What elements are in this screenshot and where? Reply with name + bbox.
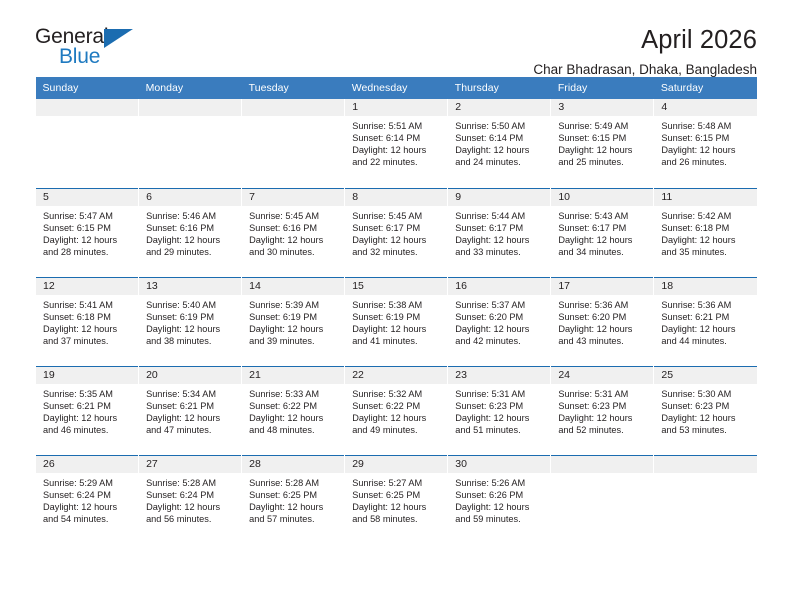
calendar-day-cell[interactable]: 24Sunrise: 5:31 AMSunset: 6:23 PMDayligh…	[551, 366, 654, 455]
day-details: Sunrise: 5:47 AMSunset: 6:15 PMDaylight:…	[36, 206, 138, 258]
calendar-day-cell[interactable]	[551, 455, 654, 544]
day-details: Sunrise: 5:36 AMSunset: 6:20 PMDaylight:…	[551, 295, 653, 347]
daylight-text: Daylight: 12 hours and 43 minutes.	[558, 323, 647, 347]
weekday-header-wednesday: Wednesday	[345, 77, 448, 99]
sunset-text: Sunset: 6:21 PM	[146, 400, 235, 412]
day-details: Sunrise: 5:27 AMSunset: 6:25 PMDaylight:…	[345, 473, 447, 525]
day-cell-inner: 19Sunrise: 5:35 AMSunset: 6:21 PMDayligh…	[36, 366, 138, 455]
day-details: Sunrise: 5:40 AMSunset: 6:19 PMDaylight:…	[139, 295, 241, 347]
calendar-day-cell[interactable]: 20Sunrise: 5:34 AMSunset: 6:21 PMDayligh…	[139, 366, 242, 455]
daylight-text: Daylight: 12 hours and 57 minutes.	[249, 501, 338, 525]
sunset-text: Sunset: 6:26 PM	[455, 489, 544, 501]
sunrise-text: Sunrise: 5:27 AM	[352, 477, 441, 489]
calendar-day-cell[interactable]: 26Sunrise: 5:29 AMSunset: 6:24 PMDayligh…	[36, 455, 139, 544]
calendar-day-cell[interactable]: 12Sunrise: 5:41 AMSunset: 6:18 PMDayligh…	[36, 277, 139, 366]
sunrise-text: Sunrise: 5:38 AM	[352, 299, 441, 311]
calendar-day-cell[interactable]	[242, 99, 345, 188]
day-cell-inner: 7Sunrise: 5:45 AMSunset: 6:16 PMDaylight…	[242, 188, 344, 277]
daylight-text: Daylight: 12 hours and 59 minutes.	[455, 501, 544, 525]
day-number: 11	[654, 189, 757, 206]
day-cell-inner: 17Sunrise: 5:36 AMSunset: 6:20 PMDayligh…	[551, 277, 653, 366]
calendar-day-cell[interactable]: 19Sunrise: 5:35 AMSunset: 6:21 PMDayligh…	[36, 366, 139, 455]
day-cell-inner	[36, 99, 138, 188]
day-number: 27	[139, 456, 241, 473]
day-number: 30	[448, 456, 550, 473]
day-number: 7	[242, 189, 344, 206]
day-number: 3	[551, 99, 653, 116]
day-cell-inner	[551, 455, 653, 544]
sunrise-text: Sunrise: 5:41 AM	[43, 299, 132, 311]
calendar-day-cell[interactable]	[139, 99, 242, 188]
sunrise-text: Sunrise: 5:45 AM	[249, 210, 338, 222]
calendar-day-cell[interactable]: 10Sunrise: 5:43 AMSunset: 6:17 PMDayligh…	[551, 188, 654, 277]
day-number	[654, 456, 757, 473]
calendar-day-cell[interactable]: 21Sunrise: 5:33 AMSunset: 6:22 PMDayligh…	[242, 366, 345, 455]
daylight-text: Daylight: 12 hours and 25 minutes.	[558, 144, 647, 168]
calendar-page: General Blue April 2026 Char Bhadrasan, …	[0, 0, 792, 612]
sunset-text: Sunset: 6:21 PM	[661, 311, 751, 323]
page-title: April 2026	[533, 26, 757, 54]
day-details: Sunrise: 5:45 AMSunset: 6:17 PMDaylight:…	[345, 206, 447, 258]
calendar-day-cell[interactable]: 22Sunrise: 5:32 AMSunset: 6:22 PMDayligh…	[345, 366, 448, 455]
day-details: Sunrise: 5:42 AMSunset: 6:18 PMDaylight:…	[654, 206, 757, 258]
sunset-text: Sunset: 6:23 PM	[661, 400, 751, 412]
day-cell-inner: 9Sunrise: 5:44 AMSunset: 6:17 PMDaylight…	[448, 188, 550, 277]
day-cell-inner	[242, 99, 344, 188]
sunset-text: Sunset: 6:15 PM	[558, 132, 647, 144]
day-cell-inner: 18Sunrise: 5:36 AMSunset: 6:21 PMDayligh…	[654, 277, 757, 366]
day-number: 19	[36, 367, 138, 384]
day-number: 14	[242, 278, 344, 295]
calendar-day-cell[interactable]: 14Sunrise: 5:39 AMSunset: 6:19 PMDayligh…	[242, 277, 345, 366]
day-details: Sunrise: 5:26 AMSunset: 6:26 PMDaylight:…	[448, 473, 550, 525]
weekday-header-monday: Monday	[139, 77, 242, 99]
day-cell-inner: 10Sunrise: 5:43 AMSunset: 6:17 PMDayligh…	[551, 188, 653, 277]
calendar-day-cell[interactable]: 4Sunrise: 5:48 AMSunset: 6:15 PMDaylight…	[654, 99, 757, 188]
calendar-day-cell[interactable]: 9Sunrise: 5:44 AMSunset: 6:17 PMDaylight…	[448, 188, 551, 277]
sunrise-text: Sunrise: 5:39 AM	[249, 299, 338, 311]
calendar-day-cell[interactable]: 30Sunrise: 5:26 AMSunset: 6:26 PMDayligh…	[448, 455, 551, 544]
sunset-text: Sunset: 6:17 PM	[455, 222, 544, 234]
sunset-text: Sunset: 6:25 PM	[352, 489, 441, 501]
logo-text-blue: Blue	[59, 46, 100, 67]
sunset-text: Sunset: 6:25 PM	[249, 489, 338, 501]
sunset-text: Sunset: 6:22 PM	[249, 400, 338, 412]
day-details: Sunrise: 5:28 AMSunset: 6:24 PMDaylight:…	[139, 473, 241, 525]
calendar-week-row: 5Sunrise: 5:47 AMSunset: 6:15 PMDaylight…	[36, 188, 758, 277]
daylight-text: Daylight: 12 hours and 51 minutes.	[455, 412, 544, 436]
day-details: Sunrise: 5:49 AMSunset: 6:15 PMDaylight:…	[551, 116, 653, 168]
logo-text-general: General	[35, 26, 108, 47]
day-details: Sunrise: 5:35 AMSunset: 6:21 PMDaylight:…	[36, 384, 138, 436]
sunrise-text: Sunrise: 5:42 AM	[661, 210, 751, 222]
day-cell-inner	[139, 99, 241, 188]
day-details: Sunrise: 5:33 AMSunset: 6:22 PMDaylight:…	[242, 384, 344, 436]
daylight-text: Daylight: 12 hours and 41 minutes.	[352, 323, 441, 347]
sunrise-text: Sunrise: 5:48 AM	[661, 120, 751, 132]
day-number: 29	[345, 456, 447, 473]
weekday-header-row: Sunday Monday Tuesday Wednesday Thursday…	[36, 77, 758, 99]
sunset-text: Sunset: 6:20 PM	[558, 311, 647, 323]
sunset-text: Sunset: 6:19 PM	[146, 311, 235, 323]
day-number: 26	[36, 456, 138, 473]
day-cell-inner: 2Sunrise: 5:50 AMSunset: 6:14 PMDaylight…	[448, 99, 550, 188]
sunset-text: Sunset: 6:19 PM	[352, 311, 441, 323]
daylight-text: Daylight: 12 hours and 30 minutes.	[249, 234, 338, 258]
day-number: 18	[654, 278, 757, 295]
calendar-day-cell[interactable]: 5Sunrise: 5:47 AMSunset: 6:15 PMDaylight…	[36, 188, 139, 277]
calendar-day-cell[interactable]: 16Sunrise: 5:37 AMSunset: 6:20 PMDayligh…	[448, 277, 551, 366]
daylight-text: Daylight: 12 hours and 32 minutes.	[352, 234, 441, 258]
day-cell-inner: 23Sunrise: 5:31 AMSunset: 6:23 PMDayligh…	[448, 366, 550, 455]
calendar-day-cell[interactable]: 7Sunrise: 5:45 AMSunset: 6:16 PMDaylight…	[242, 188, 345, 277]
calendar-header-row: Sunday Monday Tuesday Wednesday Thursday…	[36, 77, 758, 99]
sunrise-text: Sunrise: 5:33 AM	[249, 388, 338, 400]
calendar-day-cell[interactable]: 8Sunrise: 5:45 AMSunset: 6:17 PMDaylight…	[345, 188, 448, 277]
calendar-day-cell[interactable]: 6Sunrise: 5:46 AMSunset: 6:16 PMDaylight…	[139, 188, 242, 277]
day-number: 9	[448, 189, 550, 206]
day-details: Sunrise: 5:31 AMSunset: 6:23 PMDaylight:…	[551, 384, 653, 436]
sunrise-text: Sunrise: 5:31 AM	[558, 388, 647, 400]
day-cell-inner: 15Sunrise: 5:38 AMSunset: 6:19 PMDayligh…	[345, 277, 447, 366]
daylight-text: Daylight: 12 hours and 53 minutes.	[661, 412, 751, 436]
daylight-text: Daylight: 12 hours and 56 minutes.	[146, 501, 235, 525]
daylight-text: Daylight: 12 hours and 44 minutes.	[661, 323, 751, 347]
day-number: 17	[551, 278, 653, 295]
day-details: Sunrise: 5:44 AMSunset: 6:17 PMDaylight:…	[448, 206, 550, 258]
calendar-day-cell[interactable]	[36, 99, 139, 188]
daylight-text: Daylight: 12 hours and 29 minutes.	[146, 234, 235, 258]
sunrise-text: Sunrise: 5:30 AM	[661, 388, 751, 400]
sunrise-text: Sunrise: 5:29 AM	[43, 477, 132, 489]
calendar-day-cell[interactable]: 3Sunrise: 5:49 AMSunset: 6:15 PMDaylight…	[551, 99, 654, 188]
calendar-day-cell[interactable]: 23Sunrise: 5:31 AMSunset: 6:23 PMDayligh…	[448, 366, 551, 455]
daylight-text: Daylight: 12 hours and 24 minutes.	[455, 144, 544, 168]
day-number: 5	[36, 189, 138, 206]
calendar-day-cell[interactable]: 2Sunrise: 5:50 AMSunset: 6:14 PMDaylight…	[448, 99, 551, 188]
sunset-text: Sunset: 6:14 PM	[455, 132, 544, 144]
day-details	[654, 473, 757, 477]
calendar-week-row: 26Sunrise: 5:29 AMSunset: 6:24 PMDayligh…	[36, 455, 758, 544]
weekday-header-tuesday: Tuesday	[242, 77, 345, 99]
day-number: 20	[139, 367, 241, 384]
sunrise-text: Sunrise: 5:50 AM	[455, 120, 544, 132]
day-details: Sunrise: 5:29 AMSunset: 6:24 PMDaylight:…	[36, 473, 138, 525]
sunrise-text: Sunrise: 5:49 AM	[558, 120, 647, 132]
calendar-week-row: 19Sunrise: 5:35 AMSunset: 6:21 PMDayligh…	[36, 366, 758, 455]
sunset-text: Sunset: 6:21 PM	[43, 400, 132, 412]
day-details: Sunrise: 5:46 AMSunset: 6:16 PMDaylight:…	[139, 206, 241, 258]
day-number: 12	[36, 278, 138, 295]
day-cell-inner: 30Sunrise: 5:26 AMSunset: 6:26 PMDayligh…	[448, 455, 550, 544]
sunset-text: Sunset: 6:18 PM	[661, 222, 751, 234]
day-number: 22	[345, 367, 447, 384]
day-details: Sunrise: 5:39 AMSunset: 6:19 PMDaylight:…	[242, 295, 344, 347]
calendar-day-cell[interactable]: 13Sunrise: 5:40 AMSunset: 6:19 PMDayligh…	[139, 277, 242, 366]
day-details: Sunrise: 5:38 AMSunset: 6:19 PMDaylight:…	[345, 295, 447, 347]
day-details: Sunrise: 5:32 AMSunset: 6:22 PMDaylight:…	[345, 384, 447, 436]
day-details: Sunrise: 5:37 AMSunset: 6:20 PMDaylight:…	[448, 295, 550, 347]
day-details: Sunrise: 5:41 AMSunset: 6:18 PMDaylight:…	[36, 295, 138, 347]
daylight-text: Daylight: 12 hours and 33 minutes.	[455, 234, 544, 258]
sunset-text: Sunset: 6:15 PM	[661, 132, 751, 144]
sunset-text: Sunset: 6:24 PM	[43, 489, 132, 501]
sunset-text: Sunset: 6:20 PM	[455, 311, 544, 323]
day-cell-inner: 8Sunrise: 5:45 AMSunset: 6:17 PMDaylight…	[345, 188, 447, 277]
day-cell-inner: 20Sunrise: 5:34 AMSunset: 6:21 PMDayligh…	[139, 366, 241, 455]
sunrise-text: Sunrise: 5:47 AM	[43, 210, 132, 222]
day-cell-inner: 29Sunrise: 5:27 AMSunset: 6:25 PMDayligh…	[345, 455, 447, 544]
sunrise-text: Sunrise: 5:36 AM	[661, 299, 751, 311]
day-cell-inner: 1Sunrise: 5:51 AMSunset: 6:14 PMDaylight…	[345, 99, 447, 188]
sunrise-text: Sunrise: 5:32 AM	[352, 388, 441, 400]
sunset-text: Sunset: 6:22 PM	[352, 400, 441, 412]
sunset-text: Sunset: 6:23 PM	[455, 400, 544, 412]
day-number: 21	[242, 367, 344, 384]
day-cell-inner: 6Sunrise: 5:46 AMSunset: 6:16 PMDaylight…	[139, 188, 241, 277]
day-cell-inner: 24Sunrise: 5:31 AMSunset: 6:23 PMDayligh…	[551, 366, 653, 455]
calendar-day-cell[interactable]: 17Sunrise: 5:36 AMSunset: 6:20 PMDayligh…	[551, 277, 654, 366]
weekday-header-friday: Friday	[551, 77, 654, 99]
daylight-text: Daylight: 12 hours and 35 minutes.	[661, 234, 751, 258]
page-subtitle: Char Bhadrasan, Dhaka, Bangladesh	[533, 63, 757, 78]
day-number: 13	[139, 278, 241, 295]
day-cell-inner: 12Sunrise: 5:41 AMSunset: 6:18 PMDayligh…	[36, 277, 138, 366]
day-details: Sunrise: 5:30 AMSunset: 6:23 PMDaylight:…	[654, 384, 757, 436]
day-number: 4	[654, 99, 757, 116]
daylight-text: Daylight: 12 hours and 54 minutes.	[43, 501, 132, 525]
day-number	[242, 99, 344, 116]
calendar-day-cell[interactable]: 29Sunrise: 5:27 AMSunset: 6:25 PMDayligh…	[345, 455, 448, 544]
day-details	[36, 116, 138, 120]
day-number: 8	[345, 189, 447, 206]
day-number: 24	[551, 367, 653, 384]
sunrise-text: Sunrise: 5:43 AM	[558, 210, 647, 222]
sunrise-text: Sunrise: 5:34 AM	[146, 388, 235, 400]
day-cell-inner: 5Sunrise: 5:47 AMSunset: 6:15 PMDaylight…	[36, 188, 138, 277]
day-details: Sunrise: 5:51 AMSunset: 6:14 PMDaylight:…	[345, 116, 447, 168]
page-header: General Blue April 2026 Char Bhadrasan, …	[35, 0, 757, 72]
day-number: 1	[345, 99, 447, 116]
day-details: Sunrise: 5:50 AMSunset: 6:14 PMDaylight:…	[448, 116, 550, 168]
daylight-text: Daylight: 12 hours and 49 minutes.	[352, 412, 441, 436]
day-cell-inner: 27Sunrise: 5:28 AMSunset: 6:24 PMDayligh…	[139, 455, 241, 544]
weekday-header-thursday: Thursday	[448, 77, 551, 99]
sunset-text: Sunset: 6:17 PM	[558, 222, 647, 234]
sunset-text: Sunset: 6:16 PM	[249, 222, 338, 234]
logo-triangle-icon	[104, 29, 133, 48]
day-cell-inner: 21Sunrise: 5:33 AMSunset: 6:22 PMDayligh…	[242, 366, 344, 455]
sunrise-text: Sunrise: 5:45 AM	[352, 210, 441, 222]
calendar-day-cell[interactable]: 28Sunrise: 5:28 AMSunset: 6:25 PMDayligh…	[242, 455, 345, 544]
sunrise-text: Sunrise: 5:26 AM	[455, 477, 544, 489]
sunset-text: Sunset: 6:17 PM	[352, 222, 441, 234]
daylight-text: Daylight: 12 hours and 28 minutes.	[43, 234, 132, 258]
sunrise-text: Sunrise: 5:35 AM	[43, 388, 132, 400]
day-number: 10	[551, 189, 653, 206]
daylight-text: Daylight: 12 hours and 38 minutes.	[146, 323, 235, 347]
sunset-text: Sunset: 6:15 PM	[43, 222, 132, 234]
title-block: April 2026 Char Bhadrasan, Dhaka, Bangla…	[533, 26, 757, 78]
daylight-text: Daylight: 12 hours and 42 minutes.	[455, 323, 544, 347]
day-cell-inner	[654, 455, 757, 544]
day-cell-inner: 14Sunrise: 5:39 AMSunset: 6:19 PMDayligh…	[242, 277, 344, 366]
sunrise-text: Sunrise: 5:51 AM	[352, 120, 441, 132]
day-number: 16	[448, 278, 550, 295]
day-details: Sunrise: 5:43 AMSunset: 6:17 PMDaylight:…	[551, 206, 653, 258]
day-cell-inner: 4Sunrise: 5:48 AMSunset: 6:15 PMDaylight…	[654, 99, 757, 188]
day-cell-inner: 3Sunrise: 5:49 AMSunset: 6:15 PMDaylight…	[551, 99, 653, 188]
day-cell-inner: 11Sunrise: 5:42 AMSunset: 6:18 PMDayligh…	[654, 188, 757, 277]
day-details: Sunrise: 5:28 AMSunset: 6:25 PMDaylight:…	[242, 473, 344, 525]
calendar-week-row: 12Sunrise: 5:41 AMSunset: 6:18 PMDayligh…	[36, 277, 758, 366]
day-number: 15	[345, 278, 447, 295]
calendar-day-cell[interactable]: 1Sunrise: 5:51 AMSunset: 6:14 PMDaylight…	[345, 99, 448, 188]
generalblue-logo[interactable]: General Blue	[35, 26, 139, 72]
day-details: Sunrise: 5:34 AMSunset: 6:21 PMDaylight:…	[139, 384, 241, 436]
sunset-text: Sunset: 6:23 PM	[558, 400, 647, 412]
sunset-text: Sunset: 6:19 PM	[249, 311, 338, 323]
daylight-text: Daylight: 12 hours and 22 minutes.	[352, 144, 441, 168]
calendar-body: 1Sunrise: 5:51 AMSunset: 6:14 PMDaylight…	[36, 99, 758, 544]
calendar-day-cell[interactable]: 11Sunrise: 5:42 AMSunset: 6:18 PMDayligh…	[654, 188, 757, 277]
day-number	[551, 456, 653, 473]
sunset-text: Sunset: 6:24 PM	[146, 489, 235, 501]
day-details: Sunrise: 5:48 AMSunset: 6:15 PMDaylight:…	[654, 116, 757, 168]
day-cell-inner: 28Sunrise: 5:28 AMSunset: 6:25 PMDayligh…	[242, 455, 344, 544]
sunrise-text: Sunrise: 5:40 AM	[146, 299, 235, 311]
day-details: Sunrise: 5:45 AMSunset: 6:16 PMDaylight:…	[242, 206, 344, 258]
day-cell-inner: 26Sunrise: 5:29 AMSunset: 6:24 PMDayligh…	[36, 455, 138, 544]
daylight-text: Daylight: 12 hours and 47 minutes.	[146, 412, 235, 436]
calendar-day-cell[interactable]: 27Sunrise: 5:28 AMSunset: 6:24 PMDayligh…	[139, 455, 242, 544]
sunrise-text: Sunrise: 5:28 AM	[146, 477, 235, 489]
calendar-week-row: 1Sunrise: 5:51 AMSunset: 6:14 PMDaylight…	[36, 99, 758, 188]
day-details	[551, 473, 653, 477]
weekday-header-sunday: Sunday	[36, 77, 139, 99]
calendar-day-cell[interactable]: 15Sunrise: 5:38 AMSunset: 6:19 PMDayligh…	[345, 277, 448, 366]
day-number: 28	[242, 456, 344, 473]
sunrise-text: Sunrise: 5:36 AM	[558, 299, 647, 311]
daylight-text: Daylight: 12 hours and 46 minutes.	[43, 412, 132, 436]
sunrise-text: Sunrise: 5:31 AM	[455, 388, 544, 400]
day-cell-inner: 25Sunrise: 5:30 AMSunset: 6:23 PMDayligh…	[654, 366, 757, 455]
daylight-text: Daylight: 12 hours and 58 minutes.	[352, 501, 441, 525]
daylight-text: Daylight: 12 hours and 26 minutes.	[661, 144, 751, 168]
sunset-text: Sunset: 6:16 PM	[146, 222, 235, 234]
day-cell-inner: 22Sunrise: 5:32 AMSunset: 6:22 PMDayligh…	[345, 366, 447, 455]
sunset-text: Sunset: 6:18 PM	[43, 311, 132, 323]
day-number: 25	[654, 367, 757, 384]
calendar-day-cell[interactable]: 25Sunrise: 5:30 AMSunset: 6:23 PMDayligh…	[654, 366, 757, 455]
day-cell-inner: 13Sunrise: 5:40 AMSunset: 6:19 PMDayligh…	[139, 277, 241, 366]
day-details	[242, 116, 344, 120]
sunrise-sunset-calendar-table: Sunday Monday Tuesday Wednesday Thursday…	[35, 77, 757, 544]
day-number	[139, 99, 241, 116]
day-number: 6	[139, 189, 241, 206]
day-details	[139, 116, 241, 120]
day-cell-inner: 16Sunrise: 5:37 AMSunset: 6:20 PMDayligh…	[448, 277, 550, 366]
daylight-text: Daylight: 12 hours and 37 minutes.	[43, 323, 132, 347]
sunrise-text: Sunrise: 5:37 AM	[455, 299, 544, 311]
sunset-text: Sunset: 6:14 PM	[352, 132, 441, 144]
daylight-text: Daylight: 12 hours and 52 minutes.	[558, 412, 647, 436]
day-details: Sunrise: 5:31 AMSunset: 6:23 PMDaylight:…	[448, 384, 550, 436]
day-details: Sunrise: 5:36 AMSunset: 6:21 PMDaylight:…	[654, 295, 757, 347]
daylight-text: Daylight: 12 hours and 39 minutes.	[249, 323, 338, 347]
weekday-header-saturday: Saturday	[654, 77, 757, 99]
day-number: 2	[448, 99, 550, 116]
day-number	[36, 99, 138, 116]
sunrise-text: Sunrise: 5:28 AM	[249, 477, 338, 489]
sunrise-text: Sunrise: 5:44 AM	[455, 210, 544, 222]
sunrise-text: Sunrise: 5:46 AM	[146, 210, 235, 222]
daylight-text: Daylight: 12 hours and 48 minutes.	[249, 412, 338, 436]
daylight-text: Daylight: 12 hours and 34 minutes.	[558, 234, 647, 258]
calendar-day-cell[interactable]: 18Sunrise: 5:36 AMSunset: 6:21 PMDayligh…	[654, 277, 757, 366]
day-number: 23	[448, 367, 550, 384]
calendar-day-cell[interactable]	[654, 455, 757, 544]
